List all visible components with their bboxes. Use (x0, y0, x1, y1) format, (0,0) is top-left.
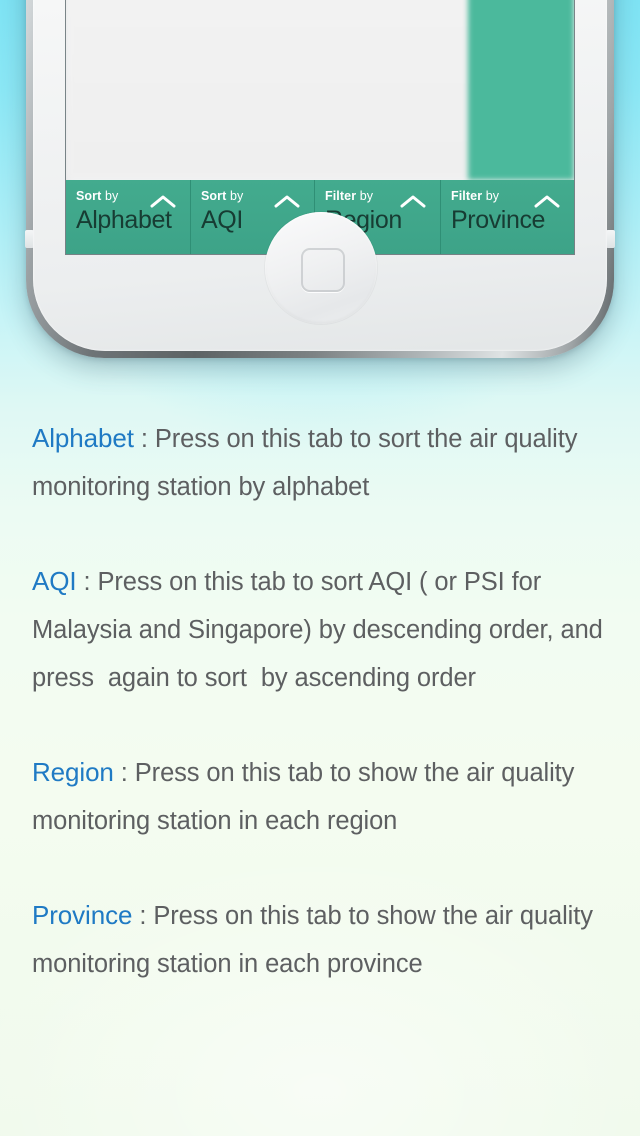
tab-kicker-light: by (482, 189, 499, 203)
tab-kicker-light: by (226, 189, 243, 203)
note-province: Province : Press on this tab to show the… (32, 891, 632, 988)
phone-mockup: Bangkok Metropolitan Reg ... Barnsomboqh… (26, 0, 614, 358)
chevron-up-icon[interactable] (273, 194, 301, 214)
note-separator: : (77, 568, 98, 596)
phone-side-button-right (606, 230, 615, 248)
note-keyword: Alphabet (32, 423, 134, 453)
instructions-list: Alphabet : Press on this tab to sort the… (32, 414, 632, 988)
note-keyword: Region (32, 757, 114, 787)
note-region: Region : Press on this tab to show the a… (32, 748, 632, 845)
tab-kicker-light: by (356, 189, 373, 203)
home-button[interactable] (265, 212, 377, 324)
tab-kicker-light: by (101, 189, 118, 203)
chevron-up-icon[interactable] (149, 194, 177, 214)
note-separator: : (132, 902, 153, 930)
next-page-button[interactable] (468, 0, 574, 180)
note-aqi: AQI : Press on this tab to sort AQI ( or… (32, 557, 632, 702)
note-separator: : (134, 425, 155, 453)
chevron-up-icon[interactable] (533, 194, 561, 214)
note-alphabet: Alphabet : Press on this tab to sort the… (32, 414, 632, 511)
tab-sort-alphabet[interactable]: Sort by Alphabet (66, 180, 190, 254)
note-body: Press on this tab to sort AQI ( or PSI f… (32, 568, 610, 692)
note-keyword: AQI (32, 566, 77, 596)
tab-kicker-strong: Sort (76, 189, 101, 203)
home-square-icon (301, 248, 345, 292)
note-keyword: Province (32, 900, 132, 930)
tab-kicker-strong: Sort (201, 189, 226, 203)
tab-kicker-strong: Filter (451, 189, 482, 203)
tab-kicker-strong: Filter (325, 189, 356, 203)
chevron-up-icon[interactable] (399, 194, 427, 214)
tab-filter-province[interactable]: Filter by Province (440, 180, 574, 254)
note-separator: : (114, 759, 135, 787)
